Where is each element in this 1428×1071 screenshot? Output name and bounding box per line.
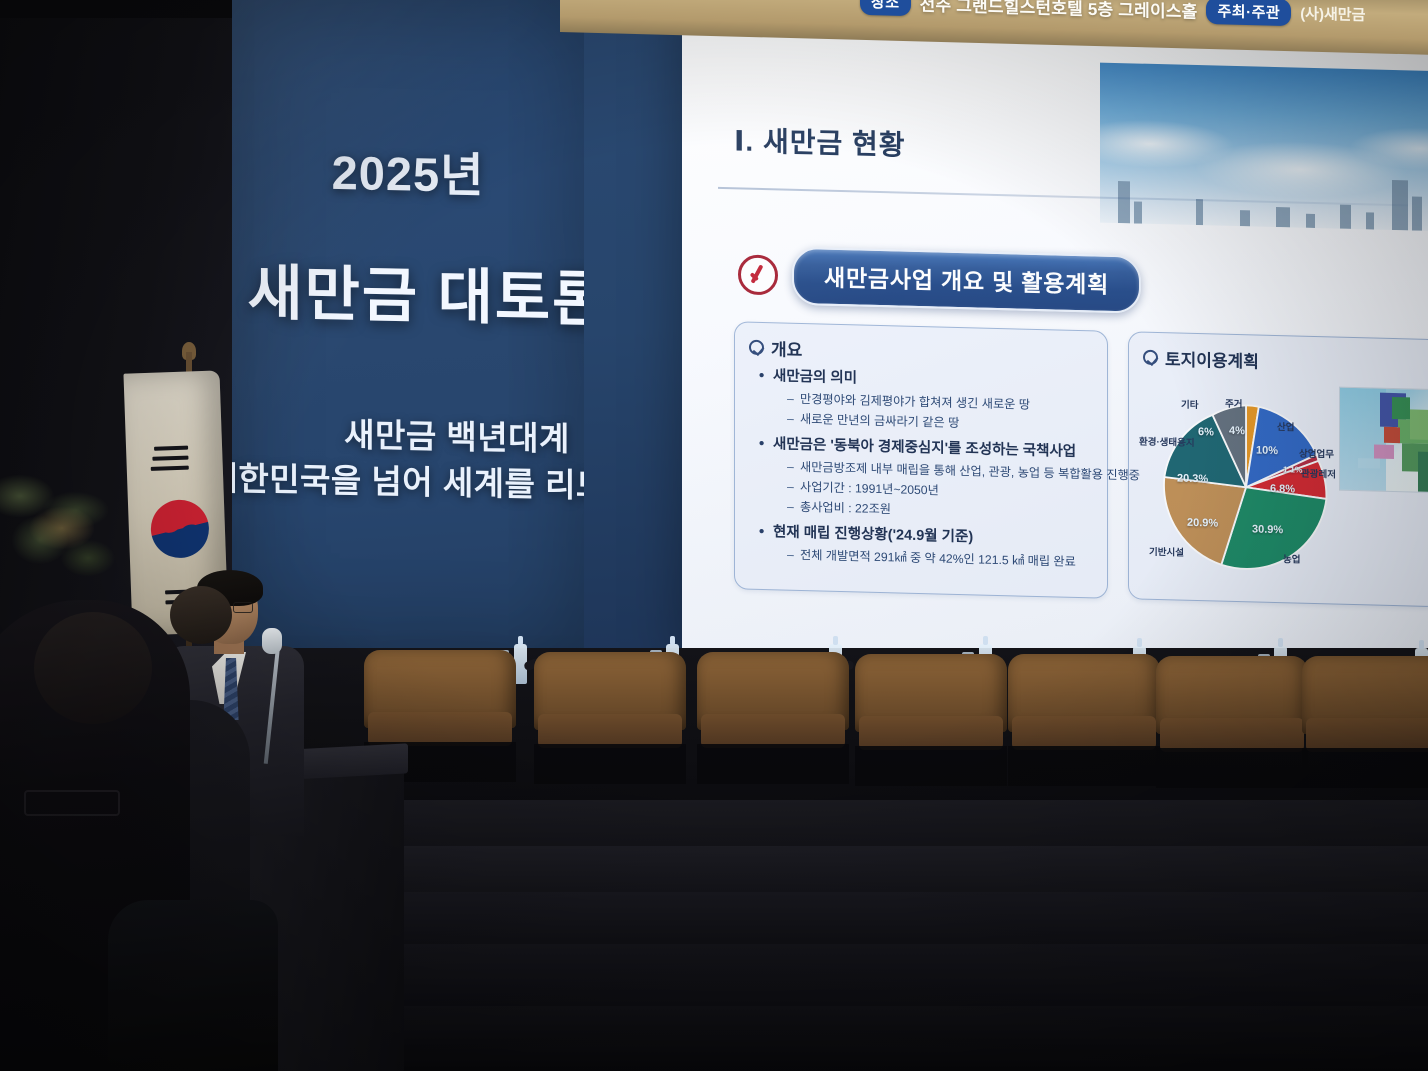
taeguk-symbol	[141, 490, 219, 568]
chair-seat	[1012, 716, 1156, 750]
overview-bullet: 새만금은 '동북아 경제중심지'를 조성하는 국책사업 새만금방조제 내부 매립…	[759, 434, 1093, 524]
podium-microphone-head	[262, 628, 282, 654]
panel-chair	[534, 652, 686, 784]
pie-label-주거: 주거	[1225, 400, 1242, 411]
banner-content: 장소 전주 그랜드힐스턴호텔 5층 그레이스홀 주최·주관 (사)새만금	[560, 0, 1428, 31]
panel-chair	[1302, 656, 1428, 788]
pie-label-기반시설: 기반시설	[1149, 548, 1184, 560]
pie-value-상업업무: 1.1%	[1283, 464, 1302, 474]
pie-value-산업: 10%	[1256, 445, 1278, 458]
chair-shadow	[534, 744, 686, 784]
land-use-heading: 토지이용계획	[1143, 345, 1425, 377]
panel-chair	[1008, 654, 1160, 786]
pie-label-산업: 산업	[1277, 423, 1294, 434]
overview-card: 개요 새만금의 의미 만경평야와 김제평야가 합쳐져 생긴 새로운 땅 새로운 …	[734, 321, 1108, 598]
chair-seat	[538, 714, 682, 748]
check-mark-icon	[749, 340, 764, 355]
pie-value-기타: 6%	[1198, 426, 1214, 438]
overview-bullet-list: 새만금의 의미 만경평야와 김제평야가 합쳐져 생긴 새로운 땅 새로운 만년의…	[759, 366, 1093, 571]
sub-bullet: 전체 개발면적 291㎢ 중 약 42%인 121.5 ㎢ 매립 완료	[787, 545, 1093, 571]
sub-bullet-list: 만경평야와 김제평야가 합쳐져 생긴 새로운 땅 새로운 만년의 금싸라기 같은…	[787, 390, 1093, 436]
event-title: 새만금 대토론회	[232, 244, 584, 340]
slide-headline-pill: 새만금사업 개요 및 활용계획	[792, 247, 1141, 314]
skyline-photo-band	[1100, 63, 1428, 232]
slide-content-row: 개요 새만금의 의미 만경평야와 김제평야가 합쳐져 생긴 새로운 땅 새로운 …	[734, 321, 1428, 607]
chair-seat	[859, 716, 1003, 750]
chair-shadow	[697, 744, 849, 784]
banner-venue-chip: 장소	[860, 0, 911, 16]
overview-bullet: 새만금의 의미 만경평야와 김제평야가 합쳐져 생긴 새로운 땅 새로운 만년의…	[759, 366, 1093, 436]
chair-seat	[701, 714, 845, 748]
banner-host-text: (사)새만금	[1300, 2, 1365, 25]
audience-eyeglasses-icon	[24, 790, 120, 816]
land-use-map-thumbnail	[1339, 387, 1428, 494]
left-projection-screen: 2025년 새만금 대토론회 새만금 백년대계 대한민국을 넘어 세계를 리드하…	[232, 0, 584, 657]
panel-chair	[1156, 656, 1308, 788]
pie-value-농업: 30.9%	[1252, 523, 1283, 536]
event-subtitle-line2: 대한민국을 넘어 세계를 리드하다	[232, 451, 584, 508]
chair-seat	[1160, 718, 1304, 752]
chair-seat	[1306, 718, 1428, 752]
sub-bullet-list: 전체 개발면적 291㎢ 중 약 42%인 121.5 ㎢ 매립 완료	[787, 545, 1093, 571]
chair-seat	[368, 712, 512, 746]
sub-bullet-list: 새만금방조제 내부 매립을 통해 산업, 관광, 농업 등 복합활용 진행중 사…	[787, 457, 1093, 524]
chair-shadow	[1008, 746, 1160, 786]
main-projection-screen: Ⅰ. 새만금 현황 새만금사업 개요 및 활용계획 개요 새만금의 의미 만경평…	[682, 0, 1428, 681]
pie-label-환경생태용지: 환경·생태용지	[1139, 438, 1189, 450]
check-mark-icon	[1143, 350, 1158, 365]
chair-shadow	[1302, 748, 1428, 788]
check-circle-icon	[738, 254, 778, 295]
panel-chair	[697, 652, 849, 784]
overview-heading-text: 개요	[771, 335, 802, 361]
pie-value-기반시설: 20.9%	[1187, 517, 1218, 530]
conference-photo-scene: 2025년 새만금 대토론회 새만금 백년대계 대한민국을 넘어 세계를 리드하…	[0, 0, 1428, 1071]
bullet-label: 새만금의 의미	[773, 368, 857, 386]
pie-value-관광레저: 6.8%	[1270, 483, 1295, 496]
pie-label-기타: 기타	[1181, 401, 1198, 412]
banner-host-chip: 주최·주관	[1206, 0, 1291, 26]
audience-head	[170, 586, 232, 644]
pie-label-관광레저: 관광레저	[1301, 470, 1336, 482]
bullet-label: 새만금은 '동북아 경제중심지'를 조성하는 국책사업	[773, 436, 1076, 460]
pie-value-주거: 4%	[1229, 425, 1245, 437]
panel-chair	[855, 654, 1007, 786]
chair-shadow	[855, 746, 1007, 786]
slide-section-title: Ⅰ. 새만금 현황	[734, 119, 906, 163]
bullet-label: 현재 매립 진행상황('24.9월 기준)	[773, 524, 973, 545]
pie-value-환경생태: 20.3%	[1177, 473, 1208, 486]
event-year: 2025년	[232, 132, 584, 208]
audience-silhouette	[108, 900, 278, 1071]
overview-bullet: 현재 매립 진행상황('24.9월 기준) 전체 개발면적 291㎢ 중 약 4…	[759, 521, 1093, 571]
land-use-heading-text: 토지이용계획	[1165, 345, 1259, 372]
land-use-pie-chart: 6% 4% 10% 1.1% 6.8% 30.9% 20.9% 20.3% 기타…	[1143, 376, 1428, 601]
banner-venue-text: 전주 그랜드힐스턴호텔 5층 그레이스홀	[920, 0, 1198, 23]
chair-shadow	[1156, 748, 1308, 788]
pie-label-상업업무: 상업업무	[1299, 450, 1334, 462]
audience-head	[34, 612, 152, 724]
pie-label-농업: 농업	[1283, 555, 1300, 566]
slide-headline-row: 새만금사업 개요 및 활용계획	[738, 245, 1141, 313]
stage-plant-highlight	[16, 496, 108, 566]
land-use-card: 토지이용계획	[1128, 331, 1428, 607]
overview-heading: 개요	[749, 335, 1093, 369]
